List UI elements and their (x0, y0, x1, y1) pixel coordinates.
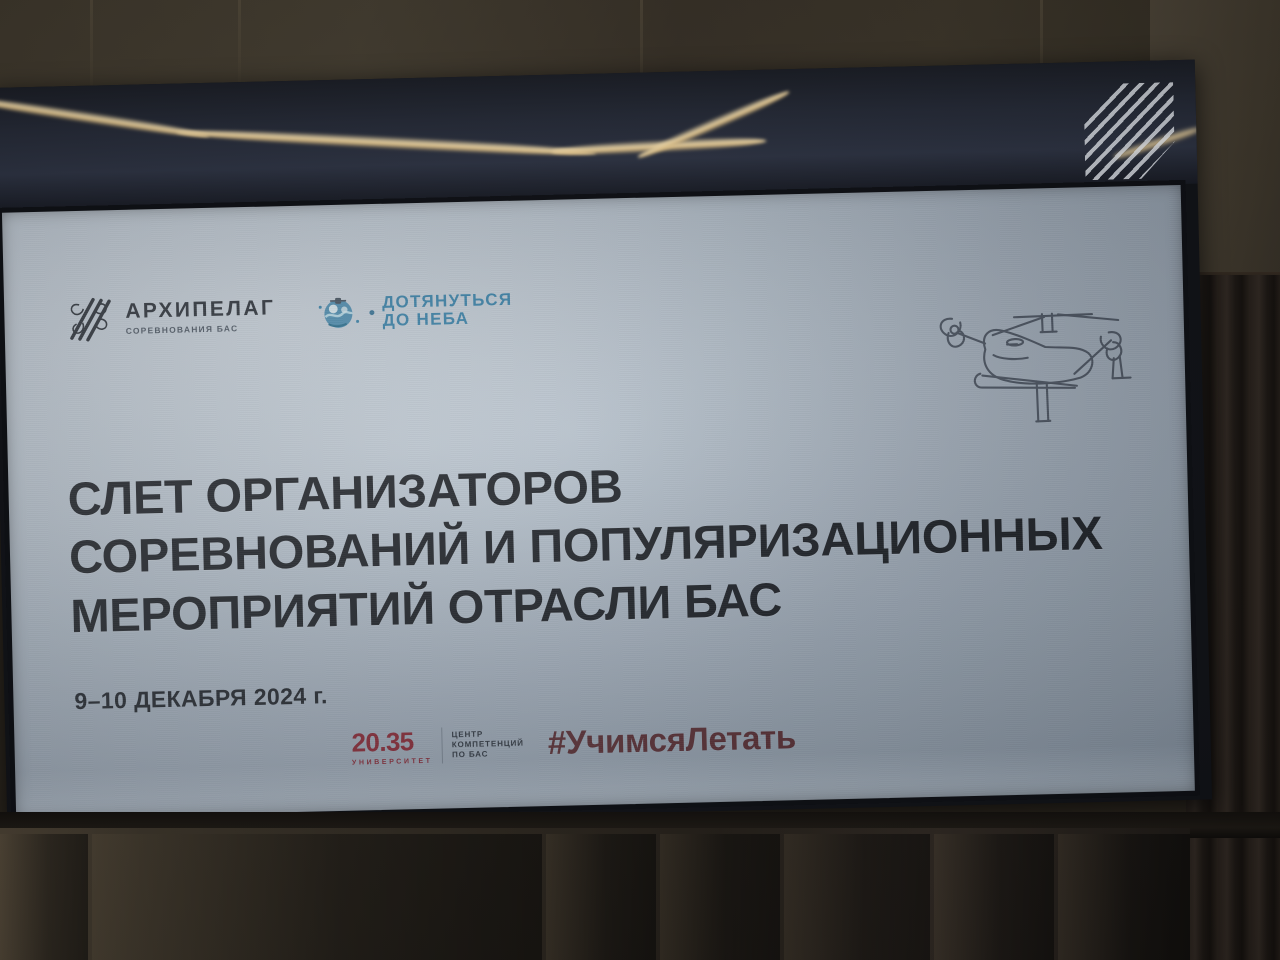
reach-the-sky-logo: ДОТЯНУТЬСЯ ДО НЕБА (317, 289, 513, 334)
wall-panel (784, 834, 930, 960)
reach-the-sky-line2: ДО НЕБА (382, 309, 513, 330)
archipelago-text: АРХИПЕЛАГ СОРЕВНОВАНИЯ БАС (125, 297, 276, 335)
university-2035-word: УНИВЕРСИТЕТ (352, 757, 433, 766)
globe-drone-emblem-icon (317, 292, 362, 333)
university-2035-mark: 20.35 УНИВЕРСИТЕТ (351, 727, 432, 766)
archipelago-name: АРХИПЕЛАГ (125, 297, 275, 322)
display-monitor: АРХИПЕЛАГ СОРЕВНОВАНИЯ БАС (0, 60, 1212, 828)
wall-panel (92, 834, 542, 960)
sky-separator-dot (369, 310, 374, 315)
logo-divider (441, 728, 443, 764)
event-hashtag: #УчимсяЛетать (547, 718, 796, 762)
wall-panel (0, 834, 88, 960)
event-date: 9–10 ДЕКАБРЯ 2024 г. (74, 682, 328, 715)
photo-scene: АРХИПЕЛАГ СОРЕВНОВАНИЯ БАС (0, 0, 1280, 960)
slide: АРХИПЕЛАГ СОРЕВНОВАНИЯ БАС (1, 184, 1196, 820)
presentation-screen: АРХИПЕЛАГ СОРЕВНОВАНИЯ БАС (1, 184, 1196, 820)
wall-panel (934, 834, 1054, 960)
archipelago-subtitle: СОРЕВНОВАНИЯ БАС (126, 323, 276, 335)
ceiling-light-reflection (636, 87, 792, 162)
university-2035-logo: 20.35 УНИВЕРСИТЕТ ЦЕНТР КОМПЕТЕНЦИЙ ПО Б… (351, 725, 524, 766)
archipelago-logo: АРХИПЕЛАГ СОРЕВНОВАНИЯ БАС (65, 291, 276, 342)
ceiling-light-reflection (0, 93, 210, 141)
reach-the-sky-text: ДОТЯНУТЬСЯ ДО НЕБА (382, 290, 513, 330)
competence-center-text: ЦЕНТР КОМПЕТЕНЦИЙ ПО БАС (451, 729, 524, 760)
ceiling-light-reflection (176, 126, 596, 159)
diagonal-stripes-decoration (1083, 82, 1175, 180)
archipelago-mark-icon (65, 295, 116, 342)
wall-panel (1058, 834, 1190, 960)
slide-heading: СЛЕТ ОРГАНИЗАТОРОВ СОРЕВНОВАНИЙ И ПОПУЛЯ… (67, 445, 1131, 645)
wall-panel (546, 834, 656, 960)
slide-logo-row: АРХИПЕЛАГ СОРЕВНОВАНИЯ БАС (65, 286, 513, 343)
slide-footer: 20.35 УНИВЕРСИТЕТ ЦЕНТР КОМПЕТЕНЦИЙ ПО Б… (351, 718, 796, 766)
wall-panel (660, 834, 780, 960)
competence-center-line3: ПО БАС (452, 748, 524, 759)
university-2035-number: 20.35 (351, 727, 432, 755)
quadcopter-drone-icon (921, 281, 1147, 430)
